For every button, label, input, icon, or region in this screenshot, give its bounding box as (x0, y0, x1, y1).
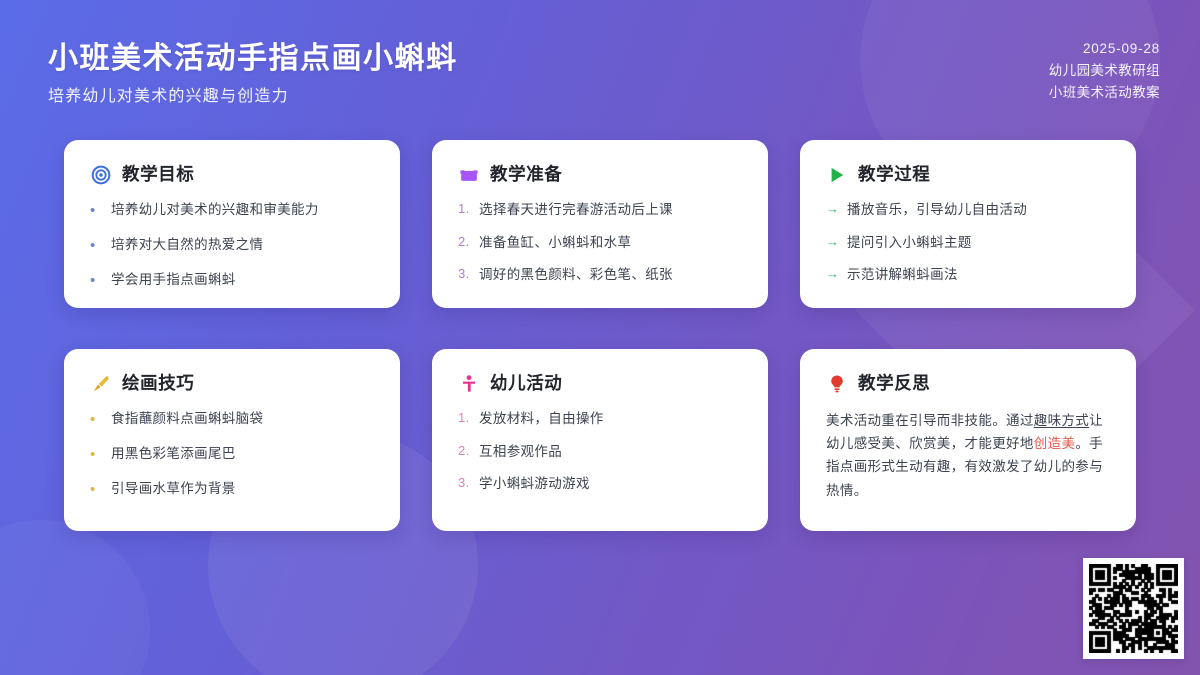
card-title: 幼儿活动 (490, 375, 562, 393)
card-title: 教学目标 (122, 166, 194, 184)
list-item-text: 准备鱼缸、小蝌蚪和水草 (479, 233, 631, 253)
card-list: •食指蘸颜料点画蝌蚪脑袋•用黑色彩笔添画尾巴•引导画水草作为背景 (90, 409, 374, 500)
header-meta-block: 2025-09-28 幼儿园美术教研组 小班美术活动教案 (1049, 38, 1160, 104)
list-item: 3.调好的黑色颜料、彩色笔、纸张 (458, 265, 742, 285)
arrow-right-icon: → (826, 200, 847, 219)
list-number: 2. (458, 442, 479, 461)
list-item: →播放音乐，引导幼儿自由活动 (826, 200, 1110, 220)
card-teaching-process: 教学过程→播放音乐，引导幼儿自由活动→提问引入小蝌蚪主题→示范讲解蝌蚪画法 (800, 140, 1136, 308)
card-title: 绘画技巧 (122, 375, 194, 393)
card-header: 绘画技巧 (90, 373, 374, 394)
qr-code-image (1089, 564, 1178, 653)
list-item: 3.学小蝌蚪游动游戏 (458, 474, 742, 494)
list-item: →示范讲解蝌蚪画法 (826, 265, 1110, 285)
list-item: •培养幼儿对美术的兴趣和审美能力 (90, 200, 374, 222)
paintbrush-icon (90, 373, 111, 394)
list-item-text: 提问引入小蝌蚪主题 (847, 233, 972, 253)
list-number: 1. (458, 200, 479, 219)
list-item: •学会用手指点画蝌蚪 (90, 270, 374, 292)
page-title: 小班美术活动手指点画小蝌蚪 (48, 40, 458, 78)
list-item-text: 选择春天进行完春游活动后上课 (479, 200, 673, 220)
slide-canvas: 小班美术活动手指点画小蝌蚪 培养幼儿对美术的兴趣与创造力 2025-09-28 … (0, 0, 1200, 675)
play-triangle-icon (826, 164, 847, 185)
list-item-text: 用黑色彩笔添画尾巴 (111, 444, 236, 464)
list-item: →提问引入小蝌蚪主题 (826, 233, 1110, 253)
child-figure-icon (458, 373, 479, 394)
card-painting-skills: 绘画技巧•食指蘸颜料点画蝌蚪脑袋•用黑色彩笔添画尾巴•引导画水草作为背景 (64, 349, 400, 531)
list-item-text: 引导画水草作为背景 (111, 479, 236, 499)
target-icon (90, 164, 111, 185)
card-teaching-preparation: 教学准备1.选择春天进行完春游活动后上课2.准备鱼缸、小蝌蚪和水草3.调好的黑色… (432, 140, 768, 308)
paragraph-text-1: 美术活动重在引导而非技能。通过 (826, 413, 1034, 428)
list-item: 1.发放材料，自由操作 (458, 409, 742, 429)
card-header: 教学过程 (826, 164, 1110, 185)
list-item: •培养对大自然的热爱之情 (90, 235, 374, 257)
slide-header: 小班美术活动手指点画小蝌蚪 培养幼儿对美术的兴趣与创造力 2025-09-28 … (48, 38, 1160, 107)
card-header: 教学准备 (458, 164, 742, 185)
list-item: 2.准备鱼缸、小蝌蚪和水草 (458, 233, 742, 253)
list-item-text: 示范讲解蝌蚪画法 (847, 265, 958, 285)
arrow-right-icon: → (826, 233, 847, 252)
card-header: 教学反思 (826, 373, 1110, 394)
list-item-text: 培养对大自然的热爱之情 (111, 235, 263, 255)
list-item-text: 互相参观作品 (479, 442, 562, 462)
page-subtitle: 培养幼儿对美术的兴趣与创造力 (48, 87, 458, 108)
card-title: 教学反思 (858, 375, 930, 393)
card-title: 教学准备 (490, 166, 562, 184)
list-item-text: 调好的黑色颜料、彩色笔、纸张 (479, 265, 673, 285)
card-teaching-goals: 教学目标•培养幼儿对美术的兴趣和审美能力•培养对大自然的热爱之情•学会用手指点画… (64, 140, 400, 308)
card-list: 1.发放材料，自由操作2.互相参观作品3.学小蝌蚪游动游戏 (458, 409, 742, 494)
qr-code[interactable] (1083, 558, 1184, 659)
card-children-activity: 幼儿活动1.发放材料，自由操作2.互相参观作品3.学小蝌蚪游动游戏 (432, 349, 768, 531)
meta-document-type: 小班美术活动教案 (1049, 82, 1160, 104)
card-header: 教学目标 (90, 164, 374, 185)
list-item-text: 培养幼儿对美术的兴趣和审美能力 (111, 200, 319, 220)
list-item-text: 播放音乐，引导幼儿自由活动 (847, 200, 1027, 220)
meta-date: 2025-09-28 (1049, 38, 1160, 60)
list-item: •用黑色彩笔添画尾巴 (90, 444, 374, 466)
bullet-dot-icon: • (90, 235, 111, 257)
bullet-dot-icon: • (90, 444, 111, 466)
list-item-text: 学会用手指点画蝌蚪 (111, 270, 236, 290)
bullet-dot-icon: • (90, 200, 111, 222)
decorative-circle-left (0, 520, 150, 675)
bullet-dot-icon: • (90, 479, 111, 501)
list-number: 3. (458, 265, 479, 284)
list-item-text: 食指蘸颜料点画蝌蚪脑袋 (111, 409, 263, 429)
header-title-block: 小班美术活动手指点画小蝌蚪 培养幼儿对美术的兴趣与创造力 (48, 38, 458, 107)
meta-organization: 幼儿园美术教研组 (1049, 60, 1160, 82)
list-item-text: 发放材料，自由操作 (479, 409, 604, 429)
card-header: 幼儿活动 (458, 373, 742, 394)
card-title: 教学过程 (858, 166, 930, 184)
cards-grid: 教学目标•培养幼儿对美术的兴趣和审美能力•培养对大自然的热爱之情•学会用手指点画… (64, 140, 1137, 531)
list-item: 1.选择春天进行完春游活动后上课 (458, 200, 742, 220)
list-number: 1. (458, 409, 479, 428)
paragraph-underlined-text: 趣味方式 (1034, 413, 1089, 428)
bullet-dot-icon: • (90, 270, 111, 292)
arrow-right-icon: → (826, 265, 847, 284)
lightbulb-icon (826, 373, 847, 394)
list-number: 2. (458, 233, 479, 252)
card-teaching-reflection: 教学反思美术活动重在引导而非技能。通过趣味方式让幼儿感受美、欣赏美，才能更好地创… (800, 349, 1136, 531)
list-item: 2.互相参观作品 (458, 442, 742, 462)
bullet-dot-icon: • (90, 409, 111, 431)
card-list: •培养幼儿对美术的兴趣和审美能力•培养对大自然的热爱之情•学会用手指点画蝌蚪 (90, 200, 374, 291)
reflection-paragraph: 美术活动重在引导而非技能。通过趣味方式让幼儿感受美、欣赏美，才能更好地创造美。手… (826, 409, 1110, 502)
list-item: •食指蘸颜料点画蝌蚪脑袋 (90, 409, 374, 431)
paragraph-highlighted-text: 创造美 (1034, 436, 1076, 451)
list-number: 3. (458, 474, 479, 493)
card-list: 1.选择春天进行完春游活动后上课2.准备鱼缸、小蝌蚪和水草3.调好的黑色颜料、彩… (458, 200, 742, 285)
list-item: •引导画水草作为背景 (90, 479, 374, 501)
list-item-text: 学小蝌蚪游动游戏 (479, 474, 590, 494)
gift-box-icon (458, 164, 479, 185)
card-list: →播放音乐，引导幼儿自由活动→提问引入小蝌蚪主题→示范讲解蝌蚪画法 (826, 200, 1110, 285)
